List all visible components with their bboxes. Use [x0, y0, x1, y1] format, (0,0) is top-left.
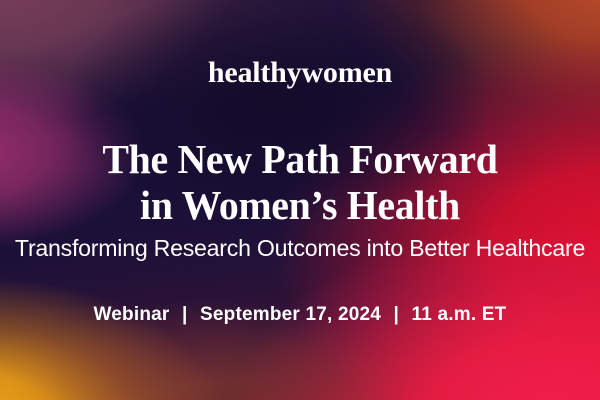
event-type-label: Webinar: [93, 304, 169, 325]
event-time: 11 a.m. ET: [412, 304, 507, 325]
subtitle-text: Transforming Research Outcomes into Bett…: [5, 234, 596, 262]
brand-logo-healthywomen: healthywomen: [0, 58, 600, 88]
headline-block: The New Path Forward in Women’s Health: [0, 136, 600, 228]
detail-separator-1: |: [175, 303, 195, 327]
event-details-line: Webinar | September 17, 2024 | 11 a.m. E…: [0, 303, 600, 327]
headline-line-2: in Women’s Health: [9, 182, 591, 228]
event-date: September 17, 2024: [200, 304, 381, 325]
headline-line-1: The New Path Forward: [9, 136, 591, 182]
webinar-promo-banner: healthywomen The New Path Forward in Wom…: [0, 0, 600, 400]
banner-content: healthywomen The New Path Forward in Wom…: [0, 0, 600, 400]
detail-separator-2: |: [387, 303, 407, 327]
